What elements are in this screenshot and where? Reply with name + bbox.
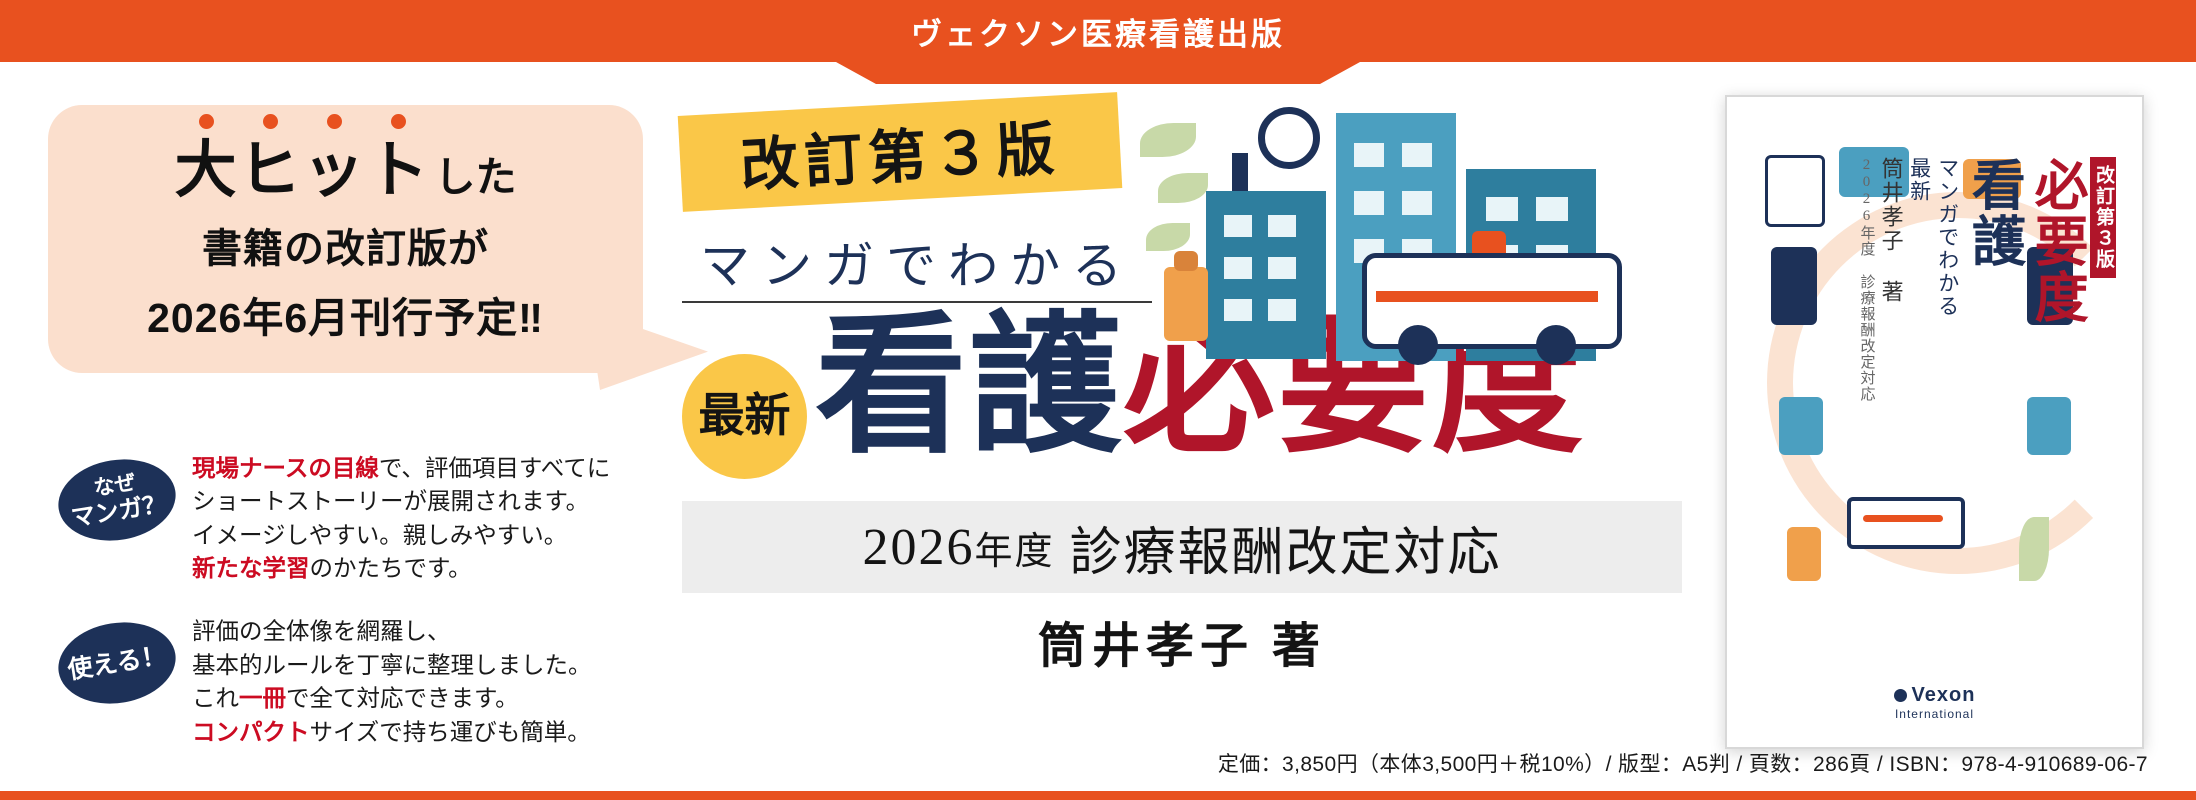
feature-badge-why-manga: なぜ マンガ？: [52, 451, 181, 548]
window: [1536, 197, 1568, 221]
bottom-orange-bar: [0, 791, 2196, 800]
window: [1402, 191, 1432, 215]
cover-saishin: 最新: [1909, 157, 1931, 577]
bubble-line-1: 大ヒット した: [174, 140, 516, 202]
subtitle-year: 2026: [862, 518, 974, 577]
feature-plain: で全て対応できます。: [286, 685, 519, 711]
feature-text-usable: 評価の全体像を網羅し、 基本的ルールを丁寧に整理しました。 これ一冊で全て対応で…: [192, 611, 592, 748]
newest-badge: 最新: [682, 354, 807, 479]
edition-tag: 改訂第３版: [678, 92, 1123, 212]
feature-text-why-manga: 現場ナースの目線で、評価項目すべてに ショートストーリーが展開されます。 イメー…: [192, 448, 610, 585]
leaf-icon: [1158, 173, 1208, 203]
leaf-icon: [1146, 223, 1190, 251]
book-cover: 改訂第３版 必要度 看護 マンガでわかる 最新 筒井孝子 著 2026年度 診療…: [1725, 95, 2144, 749]
subtitle-nendo: 年度: [974, 520, 1054, 575]
bubble-line-3: 2026年6月刊行予定‼: [147, 284, 544, 344]
feature-plain: ショートストーリーが展開されます。: [192, 488, 589, 514]
feature-plain: で、評価項目すべてに: [379, 455, 610, 481]
leaf-icon: [1140, 123, 1196, 157]
window: [1268, 215, 1296, 237]
ambulance-light-icon: [1472, 231, 1506, 253]
feature-plain: のかたちです。: [310, 555, 472, 581]
cover-manga-line: マンガでわかる: [1937, 157, 1959, 577]
feature-plain: これ: [192, 685, 239, 711]
feature-badge-line-1: 使える！: [66, 641, 169, 685]
bubble-line-2: 書籍の改訂版が: [202, 216, 489, 274]
feature-line: 新たな学習のかたちです。: [192, 552, 610, 585]
feature-plain: 基本的ルールを丁寧に整理しました。: [192, 652, 592, 678]
feature-line: これ一冊で全て対応できます。: [192, 682, 592, 715]
feature-highlight: コンパクト: [192, 719, 310, 745]
feature-item-why-manga: なぜ マンガ？ 現場ナースの目線で、評価項目すべてに ショートストーリーが展開さ…: [58, 448, 678, 585]
cover-author: 筒井孝子 著: [1880, 157, 1903, 577]
window: [1224, 215, 1252, 237]
emphasis-dots-icon: [174, 114, 430, 129]
feature-line: ショートストーリーが展開されます。: [192, 485, 610, 518]
nurse-figure-icon: [1771, 247, 1817, 325]
cover-title-red: 必要度: [2027, 157, 2084, 577]
feature-badge-usable: 使える！: [52, 615, 181, 712]
feature-badge-line-2: マンガ？: [69, 491, 168, 533]
bottle-cap-icon: [1174, 251, 1198, 271]
logo-dot-icon: [1894, 689, 1907, 702]
window: [1268, 299, 1296, 321]
cover-year-line: 2026年度 診療報酬改定対応: [1858, 157, 1874, 577]
cover-title-group: 改訂第３版 必要度 看護 マンガでわかる 最新 筒井孝子 著 2026年度 診療…: [1816, 157, 2116, 577]
window: [1402, 143, 1432, 167]
window: [1354, 191, 1384, 215]
author-name: 筒井孝子 著: [682, 606, 1682, 676]
top-bar-notch: [0, 62, 2196, 84]
hospital-ambulance-illustration: [1140, 95, 1700, 425]
advertisement-banner: ヴェクソン医療看護出版 大ヒット した 書籍の改訂版が 2026年6月刊行予定‼…: [0, 0, 2196, 800]
ambulance-stripe: [1376, 291, 1598, 302]
feature-plain: サイズで持ち運びも簡単。: [310, 719, 591, 745]
medicine-bottle-icon: [1164, 267, 1208, 341]
bubble-emphasis-word: 大ヒット: [174, 140, 430, 202]
cover-logo-name: Vexon: [1727, 684, 2142, 707]
feature-line: コンパクトサイズで持ち運びも簡単。: [192, 716, 592, 749]
cover-title-navy: 看護: [1965, 157, 2022, 577]
cover-edition-tag: 改訂第３版: [2090, 157, 2116, 278]
subtitle-rest: 診療報酬改定対応: [1070, 510, 1502, 585]
subtitle: 2026年度 診療報酬改定対応: [682, 501, 1682, 593]
feature-list: なぜ マンガ？ 現場ナースの目線で、評価項目すべてに ショートストーリーが展開さ…: [58, 448, 678, 775]
feature-line: イメージしやすい。親しみやすい。: [192, 519, 610, 552]
feature-item-usable: 使える！ 評価の全体像を網羅し、 基本的ルールを丁寧に整理しました。 これ一冊で…: [58, 611, 678, 748]
stethoscope-icon: [1258, 107, 1320, 169]
feature-plain: 評価の全体像を網羅し、: [192, 618, 451, 644]
window: [1268, 257, 1296, 279]
cover-publisher-logo: Vexon International: [1727, 684, 2142, 721]
bubble-emphasis-text: 大ヒット: [174, 136, 430, 205]
window: [1486, 197, 1518, 221]
window: [1354, 143, 1384, 167]
cover-logo-text: Vexon: [1912, 684, 1976, 706]
window: [1224, 257, 1252, 279]
bubble-line-1-suffix: した: [435, 157, 517, 198]
ambulance-wheel: [1536, 325, 1576, 365]
feature-highlight: 新たな学習: [192, 555, 310, 581]
feature-line: 評価の全体像を網羅し、: [192, 615, 592, 648]
cover-logo-sub: International: [1727, 707, 2142, 721]
main-title-navy: 看護: [815, 303, 1123, 471]
title-kicker: マンガでわかる: [682, 226, 1152, 298]
feature-highlight: 現場ナースの目線: [192, 455, 379, 481]
window: [1224, 299, 1252, 321]
publisher-label: ヴェクソン医療看護出版: [0, 0, 2196, 62]
feature-line: 基本的ルールを丁寧に整理しました。: [192, 649, 592, 682]
ambulance-wheel: [1398, 325, 1438, 365]
book-spec-line: 定価：3,850円（本体3,500円＋税10%）/ 版型：A5判 / 頁数：28…: [0, 748, 2196, 778]
feature-plain: イメージしやすい。親しみやすい。: [192, 522, 567, 548]
feature-line: 現場ナースの目線で、評価項目すべてに: [192, 452, 610, 485]
speech-bubble-content: 大ヒット した 書籍の改訂版が 2026年6月刊行予定‼: [48, 105, 643, 373]
feature-highlight: 一冊: [239, 685, 286, 711]
